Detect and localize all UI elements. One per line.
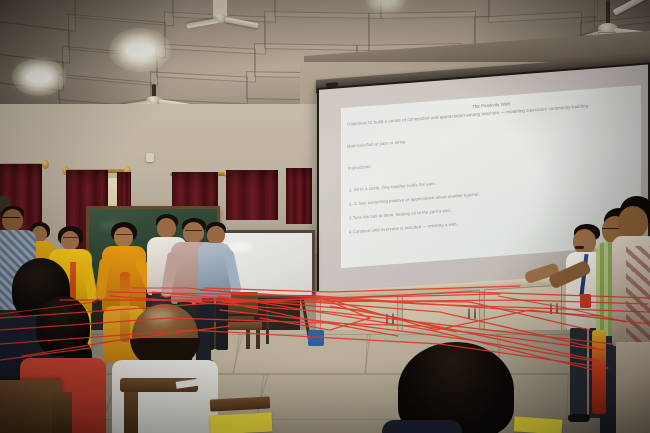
yellow-paper[interactable] <box>210 412 273 433</box>
slide-step-4: 4.Continue until everyone is included — … <box>349 221 458 234</box>
eyeglasses <box>2 217 20 220</box>
draped-cloth <box>592 330 606 414</box>
eyeglasses <box>63 237 78 240</box>
shoe <box>568 414 590 422</box>
ceiling-fan <box>192 0 252 34</box>
slide-title: The Positivity Web <box>472 101 510 109</box>
photo-scene: The Positivity Web Objective:To build a … <box>0 0 650 433</box>
saree-pattern <box>626 246 650 346</box>
waste-bin <box>308 330 324 346</box>
seated-attendee <box>398 342 520 433</box>
slide-step-3: 3.Toss the ball to them, holding on to t… <box>349 208 452 221</box>
cabinet-handle[interactable] <box>474 308 476 319</box>
ceiling-light <box>12 58 66 96</box>
ceiling-light <box>109 28 171 72</box>
slide-instructions-heading: Instructions: <box>348 164 372 171</box>
bald-sheen <box>146 309 174 323</box>
id-badge <box>580 294 591 308</box>
moustache <box>575 246 584 249</box>
participant-standing <box>616 196 650 433</box>
wooden-chair[interactable] <box>124 392 138 433</box>
yellow-paper[interactable] <box>514 416 563 433</box>
slide-step-1: 1. Sit in a circle. One teacher holds th… <box>349 181 436 193</box>
wall-sensor <box>146 153 154 162</box>
wooden-chair[interactable] <box>52 392 72 433</box>
cabinet-handle[interactable] <box>556 303 558 314</box>
eyeglasses <box>116 234 132 237</box>
slide-step-2: 2. 2. Say something positive or apprecia… <box>349 191 480 206</box>
cabinet-handle[interactable] <box>468 308 470 319</box>
cabinet-handle[interactable] <box>392 313 394 324</box>
cabinet-handle[interactable] <box>550 303 552 314</box>
window-curtain <box>226 170 278 220</box>
cabinet-handle[interactable] <box>386 313 388 324</box>
easel-leg <box>266 296 269 344</box>
window-curtain <box>286 168 312 224</box>
slide-materials: Materials:Ball of yarn or string <box>347 139 406 149</box>
curtain-finial <box>42 160 49 169</box>
slide-objective: Objective:To build a sense of connection… <box>347 103 589 127</box>
shoulder <box>382 420 462 433</box>
